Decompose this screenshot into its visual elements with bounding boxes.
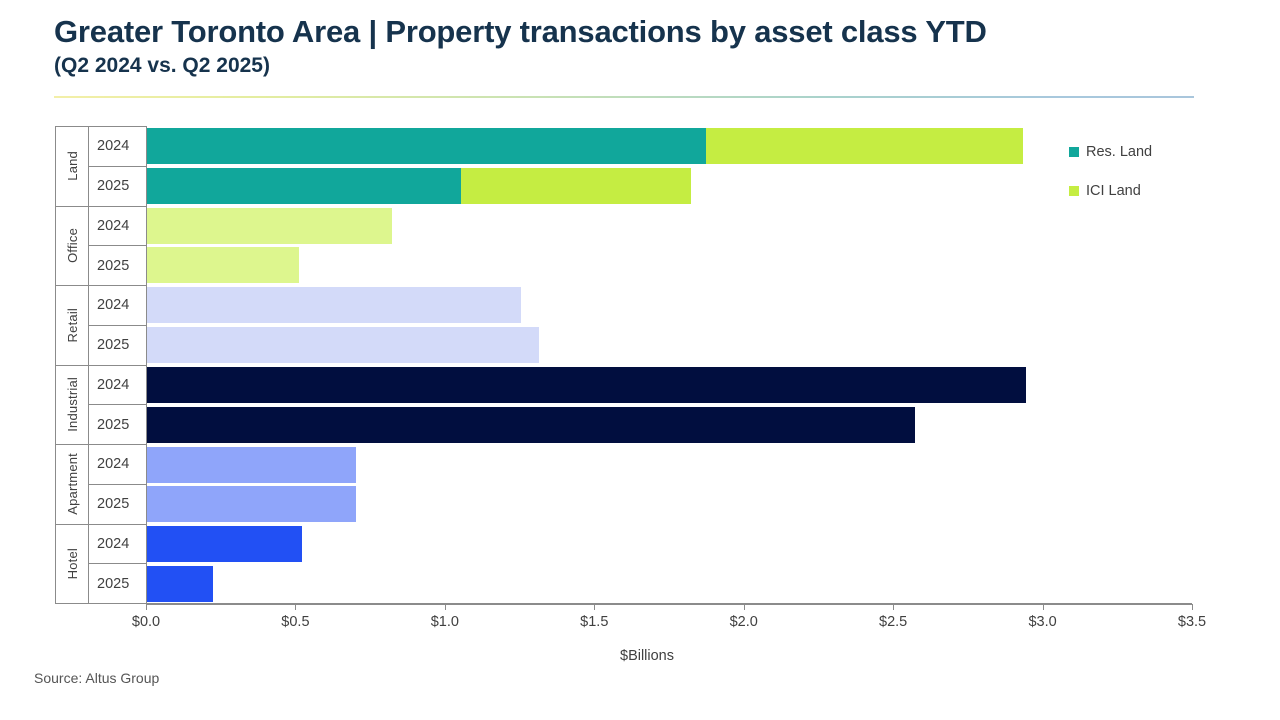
category-years: 20242025 (89, 525, 146, 604)
bar-land-2024[interactable] (147, 128, 1023, 164)
year-label-industrial-2025: 2025 (89, 405, 146, 444)
bar-segment-res-land[interactable] (147, 128, 706, 164)
x-tick-2 (445, 604, 446, 610)
bar-office-2025[interactable] (147, 247, 299, 283)
x-tick-label-2: $1.0 (431, 614, 459, 630)
bar-retail-2025[interactable] (147, 327, 539, 363)
legend-label: Res. Land (1086, 144, 1152, 160)
year-label-hotel-2025: 2025 (89, 564, 146, 603)
x-tick-5 (893, 604, 894, 610)
chart-plot: Land20242025Office20242025Retail20242025… (0, 0, 1280, 720)
category-label-hotel: Hotel (56, 525, 89, 604)
category-label-text: Apartment (65, 453, 80, 515)
bar-segment-retail[interactable] (147, 287, 521, 323)
bar-retail-2024[interactable] (147, 287, 521, 323)
year-label-retail-2024: 2024 (89, 286, 146, 326)
bar-segment-office[interactable] (147, 247, 299, 283)
bar-apartment-2024[interactable] (147, 447, 356, 483)
x-tick-7 (1192, 604, 1193, 610)
bar-segment-industrial[interactable] (147, 407, 915, 443)
bars-region (146, 126, 1192, 604)
bar-apartment-2025[interactable] (147, 486, 356, 522)
category-label-industrial: Industrial (56, 366, 89, 445)
category-group-retail: Retail20242025 (56, 286, 146, 366)
year-label-apartment-2025: 2025 (89, 485, 146, 524)
bar-segment-apartment[interactable] (147, 486, 356, 522)
category-group-land: Land20242025 (56, 127, 146, 207)
category-years: 20242025 (89, 286, 146, 365)
category-label-text: Industrial (65, 377, 80, 432)
year-label-land-2024: 2024 (89, 127, 146, 167)
x-tick-0 (146, 604, 147, 610)
x-axis-title-label: $Billions (620, 648, 674, 664)
x-tick-3 (594, 604, 595, 610)
bar-segment-retail[interactable] (147, 327, 539, 363)
bar-segment-hotel[interactable] (147, 566, 213, 602)
bar-hotel-2025[interactable] (147, 566, 213, 602)
x-tick-4 (744, 604, 745, 610)
bar-segment-apartment[interactable] (147, 447, 356, 483)
category-group-office: Office20242025 (56, 207, 146, 287)
bar-industrial-2024[interactable] (147, 367, 1026, 403)
category-label-apartment: Apartment (56, 445, 89, 524)
year-label-land-2025: 2025 (89, 167, 146, 206)
legend-label: ICI Land (1086, 183, 1141, 199)
bar-segment-ici-land[interactable] (706, 128, 1023, 164)
category-years: 20242025 (89, 366, 146, 445)
category-axis: Land20242025Office20242025Retail20242025… (55, 126, 146, 604)
legend-item-res-land[interactable]: Res. Land (1069, 144, 1269, 160)
x-tick-6 (1043, 604, 1044, 610)
year-label-apartment-2024: 2024 (89, 445, 146, 485)
x-axis-title: $Billions (0, 648, 1280, 664)
bar-segment-office[interactable] (147, 208, 392, 244)
category-label-text: Office (65, 228, 80, 263)
category-years: 20242025 (89, 127, 146, 206)
bar-segment-industrial[interactable] (147, 367, 1026, 403)
x-tick-label-3: $1.5 (580, 614, 608, 630)
bar-segment-hotel[interactable] (147, 526, 302, 562)
bar-industrial-2025[interactable] (147, 407, 915, 443)
bar-hotel-2024[interactable] (147, 526, 302, 562)
legend-item-ici-land[interactable]: ICI Land (1069, 183, 1269, 199)
bar-land-2025[interactable] (147, 168, 691, 204)
bar-office-2024[interactable] (147, 208, 392, 244)
category-label-office: Office (56, 207, 89, 286)
category-label-land: Land (56, 127, 89, 206)
x-tick-label-7: $3.5 (1178, 614, 1206, 630)
x-axis: $0.0$0.5$1.0$1.5$2.0$2.5$3.0$3.5 (146, 604, 1192, 605)
year-label-hotel-2024: 2024 (89, 525, 146, 565)
chart-legend: Res. LandICI Land (1069, 144, 1269, 222)
year-label-retail-2025: 2025 (89, 326, 146, 365)
category-group-hotel: Hotel20242025 (56, 525, 146, 604)
x-tick-1 (295, 604, 296, 610)
x-tick-label-6: $3.0 (1028, 614, 1056, 630)
bar-segment-ici-land[interactable] (461, 168, 691, 204)
year-label-office-2025: 2025 (89, 246, 146, 285)
category-label-text: Hotel (65, 548, 80, 579)
x-tick-label-4: $2.0 (730, 614, 758, 630)
bar-segment-res-land[interactable] (147, 168, 461, 204)
category-years: 20242025 (89, 445, 146, 524)
legend-swatch-icon (1069, 147, 1079, 157)
source-note: Source: Altus Group (34, 670, 159, 686)
x-tick-label-5: $2.5 (879, 614, 907, 630)
category-years: 20242025 (89, 207, 146, 286)
category-group-industrial: Industrial20242025 (56, 366, 146, 446)
year-label-office-2024: 2024 (89, 207, 146, 247)
category-label-text: Retail (65, 308, 80, 342)
category-group-apartment: Apartment20242025 (56, 445, 146, 525)
category-label-retail: Retail (56, 286, 89, 365)
legend-swatch-icon (1069, 186, 1079, 196)
x-tick-label-1: $0.5 (281, 614, 309, 630)
x-tick-label-0: $0.0 (132, 614, 160, 630)
year-label-industrial-2024: 2024 (89, 366, 146, 406)
category-label-text: Land (65, 151, 80, 181)
